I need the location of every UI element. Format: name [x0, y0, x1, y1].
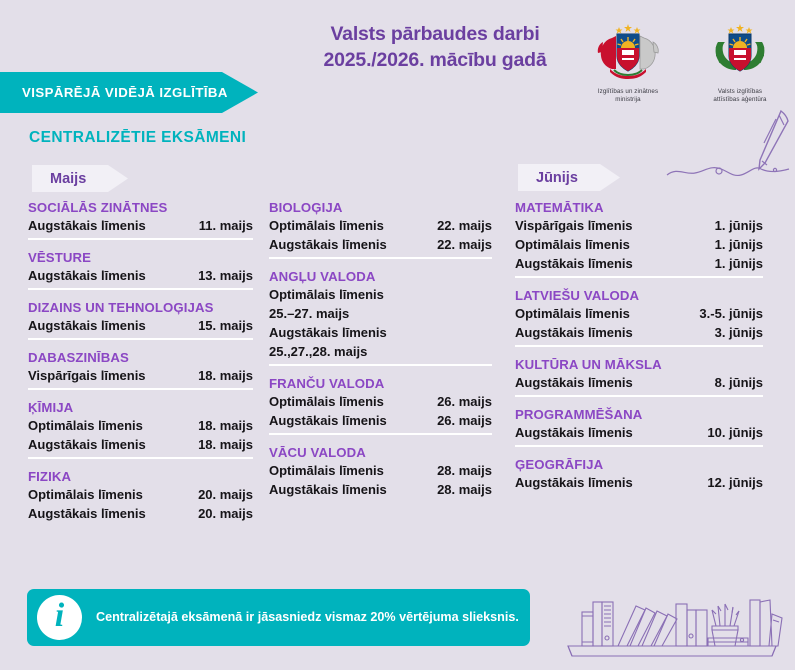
- logo-agency-caption-line-1: Valsts izglītības: [698, 88, 782, 96]
- subject-block: KULTŪRA UN MĀKSLAAugstākais līmenis8. jū…: [515, 343, 763, 393]
- section-title: CENTRALIZĒTIE EKSĀMENI: [29, 129, 246, 147]
- exam-row: Augstākais līmenis10. jūnijs: [515, 424, 763, 443]
- subject-name: VĒSTURE: [28, 250, 253, 265]
- subject-block: PROGRAMMĒŠANAAugstākais līmenis10. jūnij…: [515, 393, 763, 443]
- exam-date: 12. jūnijs: [707, 474, 763, 493]
- page-title: Valsts pārbaudes darbi 2025./2026. mācīb…: [290, 22, 580, 73]
- subject-block: LATVIEŠU VALODAOptimālais līmenis3.-5. j…: [515, 274, 763, 343]
- exam-level: Optimālais līmenis: [269, 393, 384, 412]
- subject-name: DABASZINĪBAS: [28, 350, 253, 365]
- exam-row: Augstākais līmenis22. maijs: [269, 236, 492, 255]
- exam-date: 10. jūnijs: [707, 424, 763, 443]
- exam-level: Optimālais līmenis: [269, 462, 384, 481]
- exam-level: Vispārīgais līmenis: [28, 367, 146, 386]
- subject-block: ĢEOGRĀFIJAAugstākais līmenis12. jūnijs: [515, 443, 763, 493]
- exam-row: Optimālais līmenis25.–27. maijs: [269, 286, 492, 324]
- exam-level: Augstākais līmenis: [515, 324, 633, 343]
- subject-block: VĀCU VALODAOptimālais līmenis28. maijsAu…: [269, 431, 492, 500]
- subject-block: ANGĻU VALODAOptimālais līmenis25.–27. ma…: [269, 255, 492, 362]
- exam-date: 25.–27. maijs: [269, 305, 492, 324]
- subject-block: BIOLOĢIJAOptimālais līmenis22. maijsAugs…: [269, 200, 492, 255]
- exam-level: Augstākais līmenis: [28, 267, 146, 286]
- subject-name: SOCIĀLĀS ZINĀTNES: [28, 200, 253, 215]
- exam-date: 15. maijs: [198, 317, 253, 336]
- info-banner: i Centralizētajā eksāmenā ir jāsasniedz …: [27, 589, 530, 646]
- subject-block: ĶĪMIJAOptimālais līmenis18. maijsAugstāk…: [28, 386, 253, 455]
- exam-row: Augstākais līmenis13. maijs: [28, 267, 253, 286]
- exam-row: Optimālais līmenis18. maijs: [28, 417, 253, 436]
- exam-row: Optimālais līmenis1. jūnijs: [515, 236, 763, 255]
- exam-date: 20. maijs: [198, 486, 253, 505]
- logo-ministry-caption-line-2: ministrija: [586, 96, 670, 104]
- subject-name: VĀCU VALODA: [269, 445, 492, 460]
- exam-row: Augstākais līmenis3. jūnijs: [515, 324, 763, 343]
- exam-level: Optimālais līmenis: [269, 287, 384, 302]
- logo-ministry: Izglītības un zinātnes ministrija: [586, 22, 670, 105]
- exam-row: Augstākais līmenis11. maijs: [28, 217, 253, 236]
- subject-block: DABASZINĪBASVispārīgais līmenis18. maijs: [28, 336, 253, 386]
- exam-level: Augstākais līmenis: [515, 255, 633, 274]
- education-level-banner: VISPĀRĒJĀ VIDĒJĀ IZGLĪTĪBA: [0, 72, 258, 113]
- subject-name: LATVIEŠU VALODA: [515, 288, 763, 303]
- exam-level: Optimālais līmenis: [515, 305, 630, 324]
- exam-date: 11. maijs: [199, 217, 253, 236]
- exam-row: Augstākais līmenis20. maijs: [28, 505, 253, 524]
- exam-date: 18. maijs: [198, 367, 253, 386]
- exam-row: Augstākais līmenis26. maijs: [269, 412, 492, 431]
- exam-date: 8. jūnijs: [715, 374, 763, 393]
- logo-ministry-caption: Izglītības un zinātnes ministrija: [586, 88, 670, 105]
- exam-level: Augstākais līmenis: [269, 236, 387, 255]
- exam-level: Optimālais līmenis: [28, 417, 143, 436]
- subject-block: FIZIKAOptimālais līmenis20. maijsAugstāk…: [28, 455, 253, 524]
- exam-date: 20. maijs: [198, 505, 253, 524]
- exam-row: Augstākais līmenis12. jūnijs: [515, 474, 763, 493]
- exam-row: Optimālais līmenis28. maijs: [269, 462, 492, 481]
- exam-level: Optimālais līmenis: [269, 217, 384, 236]
- logo-ministry-caption-line-1: Izglītības un zinātnes: [586, 88, 670, 96]
- exam-date: 25.,27.,28. maijs: [269, 343, 492, 362]
- subject-name: ANGĻU VALODA: [269, 269, 492, 284]
- exam-date: 26. maijs: [437, 393, 492, 412]
- latvian-coat-of-arms-small-icon: [710, 67, 770, 84]
- exam-level: Augstākais līmenis: [28, 436, 146, 455]
- exam-date: 22. maijs: [437, 217, 492, 236]
- exam-row: Optimālais līmenis22. maijs: [269, 217, 492, 236]
- exam-date: 1. jūnijs: [715, 236, 763, 255]
- page-header: Valsts pārbaudes darbi 2025./2026. mācīb…: [0, 0, 795, 118]
- exam-level: Augstākais līmenis: [269, 412, 387, 431]
- exam-row: Optimālais līmenis3.-5. jūnijs: [515, 305, 763, 324]
- subject-name: BIOLOĢIJA: [269, 200, 492, 215]
- exam-level: Vispārīgais līmenis: [515, 217, 633, 236]
- exam-date: 28. maijs: [437, 462, 492, 481]
- month-tag-june: Jūnijs: [518, 164, 620, 191]
- subject-block: FRANČU VALODAOptimālais līmenis26. maijs…: [269, 362, 492, 431]
- subject-name: DIZAINS UN TEHNOLOĢIJAS: [28, 300, 253, 315]
- exam-date: 26. maijs: [437, 412, 492, 431]
- exam-date: 22. maijs: [437, 236, 492, 255]
- exam-row: Augstākais līmenis8. jūnijs: [515, 374, 763, 393]
- exam-date: 3.-5. jūnijs: [699, 305, 763, 324]
- pen-drawing-icon: [663, 103, 793, 186]
- exam-row: Augstākais līmenis28. maijs: [269, 481, 492, 500]
- exam-level: Optimālais līmenis: [28, 486, 143, 505]
- exam-row: Augstākais līmenis15. maijs: [28, 317, 253, 336]
- subject-name: KULTŪRA UN MĀKSLA: [515, 357, 763, 372]
- exam-column-column-may-1: SOCIĀLĀS ZINĀTNESAugstākais līmenis11. m…: [28, 200, 253, 524]
- exam-row: Vispārīgais līmenis1. jūnijs: [515, 217, 763, 236]
- exam-date: 18. maijs: [198, 436, 253, 455]
- subject-name: PROGRAMMĒŠANA: [515, 407, 763, 422]
- exam-level: Augstākais līmenis: [28, 317, 146, 336]
- exam-level: Augstākais līmenis: [515, 474, 633, 493]
- subject-name: MATEMĀTIKA: [515, 200, 763, 215]
- exam-date: 1. jūnijs: [715, 217, 763, 236]
- logo-group: Izglītības un zinātnes ministrija: [586, 22, 782, 105]
- page-title-line-1: Valsts pārbaudes darbi: [330, 23, 539, 45]
- subject-block: MATEMĀTIKAVispārīgais līmenis1. jūnijsOp…: [515, 200, 763, 274]
- subject-block: DIZAINS UN TEHNOLOĢIJASAugstākais līmeni…: [28, 286, 253, 336]
- exam-date: 1. jūnijs: [715, 255, 763, 274]
- exam-level: Augstākais līmenis: [515, 374, 633, 393]
- exam-date: 3. jūnijs: [715, 324, 763, 343]
- month-tag-may: Maijs: [32, 165, 128, 192]
- exam-date: 28. maijs: [437, 481, 492, 500]
- exam-level: Augstākais līmenis: [269, 325, 387, 340]
- bookshelf-illustration-icon: [560, 580, 785, 670]
- exam-row: Optimālais līmenis20. maijs: [28, 486, 253, 505]
- exam-row: Augstākais līmenis18. maijs: [28, 436, 253, 455]
- page-title-line-2: 2025./2026. mācību gadā: [290, 48, 580, 74]
- info-banner-text: Centralizētajā eksāmenā ir jāsasniedz vi…: [96, 609, 519, 627]
- subject-name: FRANČU VALODA: [269, 376, 492, 391]
- exam-row: Vispārīgais līmenis18. maijs: [28, 367, 253, 386]
- latvian-coat-of-arms-full-icon: [592, 67, 664, 84]
- exam-level: Augstākais līmenis: [269, 481, 387, 500]
- subject-block: VĒSTUREAugstākais līmenis13. maijs: [28, 236, 253, 286]
- exam-row: Augstākais līmenis1. jūnijs: [515, 255, 763, 274]
- exam-level: Augstākais līmenis: [28, 217, 146, 236]
- exam-level: Optimālais līmenis: [515, 236, 630, 255]
- exam-row: Optimālais līmenis26. maijs: [269, 393, 492, 412]
- logo-agency: Valsts izglītības attīstības aģentūra: [698, 22, 782, 105]
- exam-row: Augstākais līmenis25.,27.,28. maijs: [269, 324, 492, 362]
- exam-column-column-may-2: BIOLOĢIJAOptimālais līmenis22. maijsAugs…: [269, 200, 492, 500]
- subject-name: ĶĪMIJA: [28, 400, 253, 415]
- subject-block: SOCIĀLĀS ZINĀTNESAugstākais līmenis11. m…: [28, 200, 253, 236]
- exam-date: 18. maijs: [198, 417, 253, 436]
- subject-name: FIZIKA: [28, 469, 253, 484]
- subject-name: ĢEOGRĀFIJA: [515, 457, 763, 472]
- exam-level: Augstākais līmenis: [28, 505, 146, 524]
- info-icon: i: [37, 595, 82, 640]
- exam-level: Augstākais līmenis: [515, 424, 633, 443]
- exam-column-column-june: MATEMĀTIKAVispārīgais līmenis1. jūnijsOp…: [515, 200, 763, 493]
- exam-date: 13. maijs: [198, 267, 253, 286]
